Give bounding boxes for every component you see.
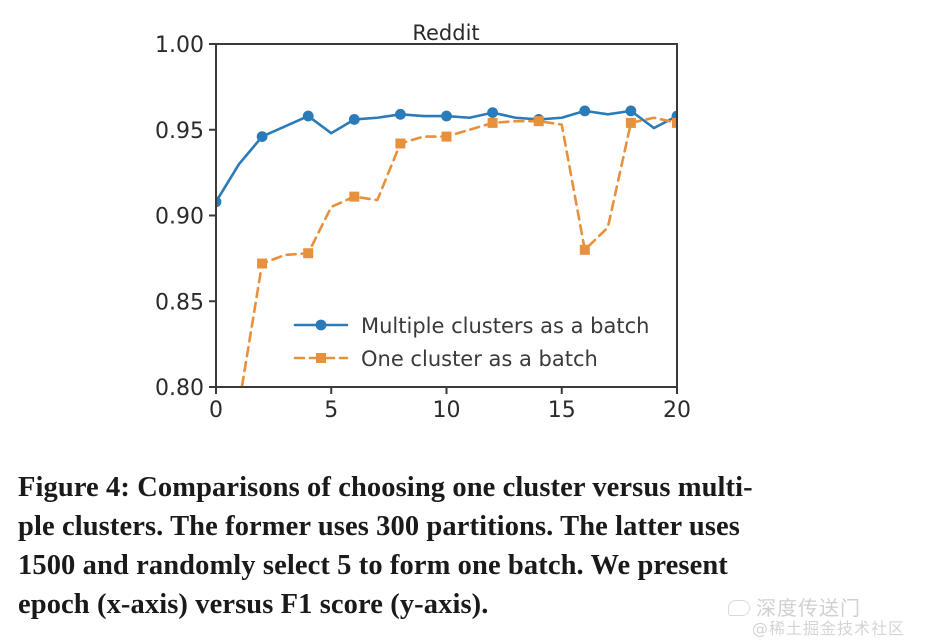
x-tick-label: 5 (324, 398, 338, 423)
y-tick-label: 0.85 (155, 290, 204, 315)
legend-label: One cluster as a batch (361, 347, 598, 371)
y-axis: 0.800.850.900.951.00 (155, 33, 216, 401)
series-marker (395, 138, 405, 148)
y-tick-label: 0.90 (155, 205, 204, 230)
series-marker (534, 116, 544, 126)
y-tick-label: 0.95 (155, 119, 204, 144)
x-tick-label: 0 (209, 398, 223, 423)
series-marker (257, 131, 268, 142)
figure-page: Reddit 0.800.850.900.951.00 05101520 Mul… (0, 0, 926, 643)
series-marker (626, 118, 636, 128)
reddit-f1-line-chart: Reddit 0.800.850.900.951.00 05101520 Mul… (0, 0, 926, 445)
chart-title: Reddit (412, 21, 479, 45)
series-marker (303, 248, 313, 258)
series-marker (579, 105, 590, 116)
y-tick-label: 1.00 (155, 33, 204, 58)
caption-line-1: Figure 4: Comparisons of choosing one cl… (18, 468, 898, 507)
series-marker (488, 118, 498, 128)
x-tick-label: 15 (548, 398, 576, 423)
series-marker (626, 105, 637, 116)
caption-line-3: 1500 and randomly select 5 to form one b… (18, 546, 898, 585)
caption-line-4: epoch (x-axis) versus F1 score (y-axis). (18, 585, 898, 624)
series-marker (487, 107, 498, 118)
figure-caption: Figure 4: Comparisons of choosing one cl… (18, 468, 898, 624)
chart-figure: Reddit 0.800.850.900.951.00 05101520 Mul… (0, 0, 926, 445)
series-marker (395, 109, 406, 120)
x-tick-label: 20 (663, 398, 691, 423)
legend-swatch-marker (316, 353, 326, 363)
legend-swatch-marker (316, 320, 327, 331)
y-tick-label: 0.80 (155, 376, 204, 401)
series-marker (442, 132, 452, 142)
series-marker (257, 259, 267, 269)
series-marker (303, 111, 314, 122)
x-tick-label: 10 (433, 398, 461, 423)
legend-label: Multiple clusters as a batch (361, 314, 649, 338)
series-marker (580, 245, 590, 255)
series-marker (349, 114, 360, 125)
x-axis: 05101520 (209, 387, 691, 423)
series-marker (441, 111, 452, 122)
series-marker (349, 192, 359, 202)
caption-line-2: ple clusters. The former uses 300 partit… (18, 507, 898, 546)
